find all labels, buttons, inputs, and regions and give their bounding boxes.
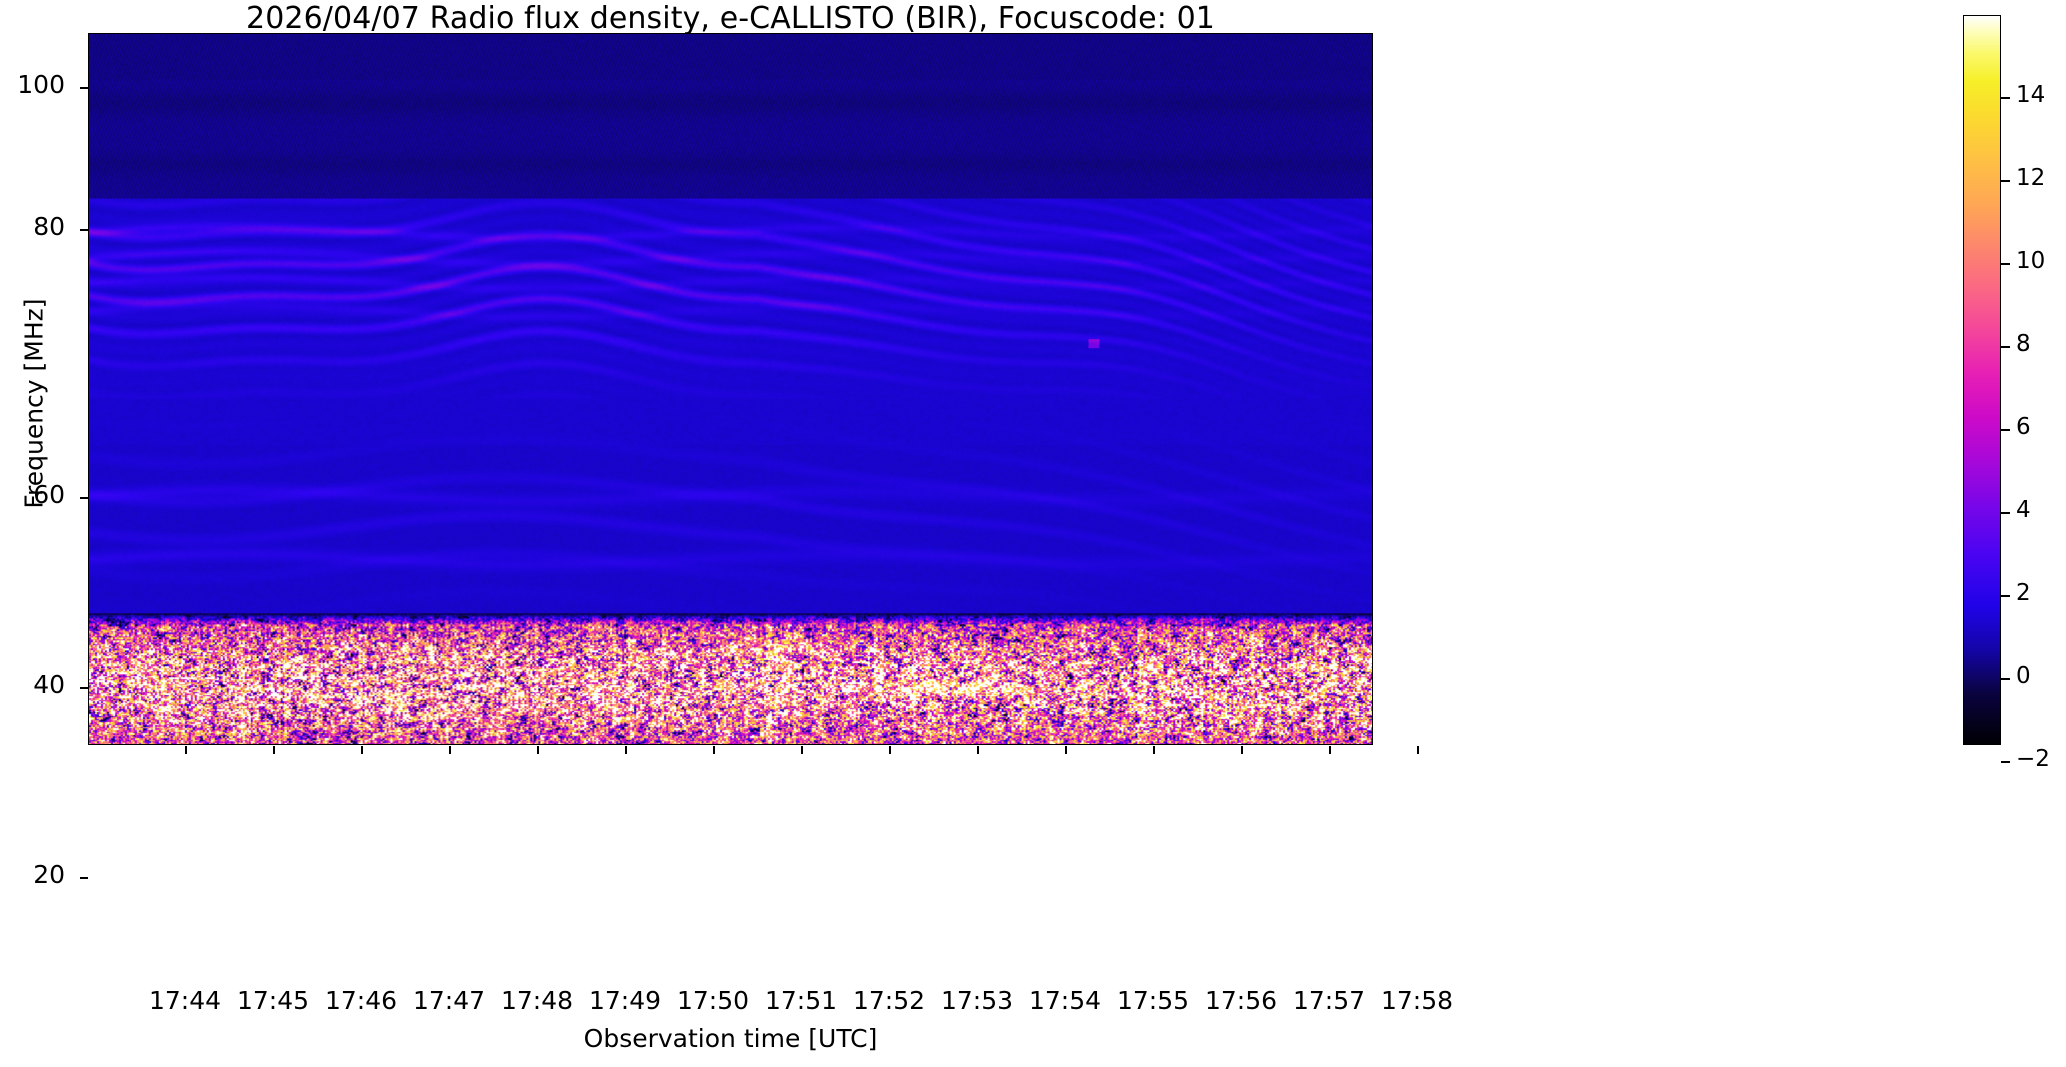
x-tick-mark: [889, 746, 891, 754]
spectrogram-figure: 2026/04/07 Radio flux density, e-CALLIST…: [0, 0, 2066, 1067]
colorbar-tick-mark: [2001, 429, 2010, 431]
x-tick-mark: [1241, 746, 1243, 754]
colorbar-tick-label: 6: [2016, 414, 2066, 440]
spectrogram-plot-area[interactable]: [88, 33, 1373, 745]
colorbar-tick-label: 0: [2016, 663, 2066, 689]
colorbar-tick-label: −2: [2016, 746, 2066, 772]
colorbar-tick-label: 10: [2016, 248, 2066, 274]
y-tick-mark: [80, 877, 88, 879]
x-tick-mark: [273, 746, 275, 754]
y-tick-mark: [80, 687, 88, 689]
y-tick-label: 100: [0, 70, 65, 99]
x-tick-mark: [185, 746, 187, 754]
colorbar-tick-mark: [2001, 678, 2010, 680]
y-tick-label: 60: [0, 480, 65, 509]
y-tick-label: 80: [0, 212, 65, 241]
y-tick-label: 40: [0, 670, 65, 699]
y-tick-label: 20: [0, 860, 65, 889]
spectrogram-image: [89, 34, 1372, 744]
colorbar-tick-mark: [2001, 263, 2010, 265]
x-tick-mark: [361, 746, 363, 754]
colorbar-tick-label: 2: [2016, 580, 2066, 606]
x-tick-mark: [1153, 746, 1155, 754]
x-axis-label: Observation time [UTC]: [88, 1024, 1373, 1053]
colorbar[interactable]: [1963, 15, 2001, 745]
colorbar-tick-mark: [2001, 97, 2010, 99]
x-tick-mark: [977, 746, 979, 754]
x-tick-mark: [1417, 746, 1419, 754]
x-tick-mark: [625, 746, 627, 754]
colorbar-tick-mark: [2001, 180, 2010, 182]
colorbar-tick-mark: [2001, 595, 2010, 597]
y-tick-mark: [80, 87, 88, 89]
colorbar-tick-label: 8: [2016, 331, 2066, 357]
x-tick-label: 17:58: [1347, 986, 1487, 1015]
colorbar-gradient: [1964, 16, 2000, 744]
x-tick-mark: [713, 746, 715, 754]
y-axis-label: Frequency [MHz]: [20, 48, 49, 760]
colorbar-tick-mark: [2001, 346, 2010, 348]
x-tick-mark: [449, 746, 451, 754]
x-tick-mark: [1065, 746, 1067, 754]
x-tick-mark: [801, 746, 803, 754]
colorbar-tick-label: 14: [2016, 82, 2066, 108]
colorbar-tick-label: 4: [2016, 497, 2066, 523]
y-tick-mark: [80, 497, 88, 499]
y-tick-mark: [80, 229, 88, 231]
x-tick-mark: [1329, 746, 1331, 754]
x-tick-mark: [537, 746, 539, 754]
colorbar-tick-mark: [2001, 761, 2010, 763]
page-title: 2026/04/07 Radio flux density, e-CALLIST…: [88, 2, 1373, 36]
colorbar-tick-mark: [2001, 512, 2010, 514]
colorbar-tick-label: 12: [2016, 165, 2066, 191]
